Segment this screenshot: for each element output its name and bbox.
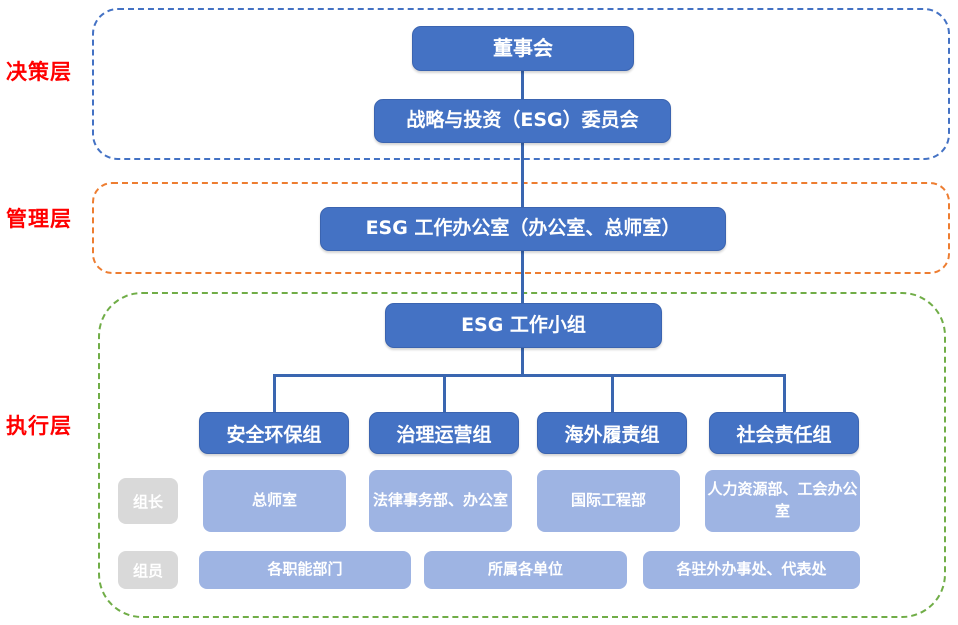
connector-drop-group-3 — [611, 374, 614, 412]
leader-cell-social-responsibility[interactable]: 人力资源部、工会办公室 — [705, 470, 860, 532]
row-label-leader: 组长 — [118, 478, 178, 524]
layer-caption-management: 管理层 — [6, 203, 72, 233]
leader-cell-safety-environment[interactable]: 总师室 — [203, 470, 346, 532]
node-esg-working-office[interactable]: ESG 工作办公室（办公室、总师室） — [320, 207, 726, 251]
connector-committee-to-office — [521, 143, 524, 207]
working-group-safety-environment[interactable]: 安全环保组 — [199, 412, 349, 454]
row-label-member: 组员 — [118, 551, 178, 589]
connector-board-to-committee — [521, 71, 524, 99]
org-chart-canvas: 决策层 管理层 执行层 董事会 战略与投资（ESG）委员会 ESG 工作办公室（… — [0, 0, 958, 625]
node-esg-working-group[interactable]: ESG 工作小组 — [385, 303, 662, 348]
connector-workinggroup-stem — [521, 348, 524, 374]
working-group-social-responsibility[interactable]: 社会责任组 — [709, 412, 859, 454]
leader-cell-overseas-responsibility[interactable]: 国际工程部 — [537, 470, 680, 532]
member-cell-overseas-offices[interactable]: 各驻外办事处、代表处 — [643, 551, 860, 589]
connector-drop-group-4 — [783, 374, 786, 412]
member-cell-affiliated-units[interactable]: 所属各单位 — [424, 551, 627, 589]
node-board-of-directors[interactable]: 董事会 — [412, 26, 634, 71]
member-cell-functional-departments[interactable]: 各职能部门 — [199, 551, 411, 589]
layer-caption-execution: 执行层 — [6, 410, 72, 440]
connector-drop-group-2 — [443, 374, 446, 412]
working-group-governance-operations[interactable]: 治理运营组 — [369, 412, 519, 454]
working-group-overseas-responsibility[interactable]: 海外履责组 — [537, 412, 687, 454]
leader-cell-governance-operations[interactable]: 法律事务部、办公室 — [369, 470, 512, 532]
layer-caption-decision: 决策层 — [6, 56, 72, 86]
connector-office-to-workinggroup — [521, 251, 524, 303]
connector-horizontal-bus — [273, 374, 786, 377]
node-strategy-investment-esg-committee[interactable]: 战略与投资（ESG）委员会 — [374, 99, 671, 143]
connector-drop-group-1 — [273, 374, 276, 412]
